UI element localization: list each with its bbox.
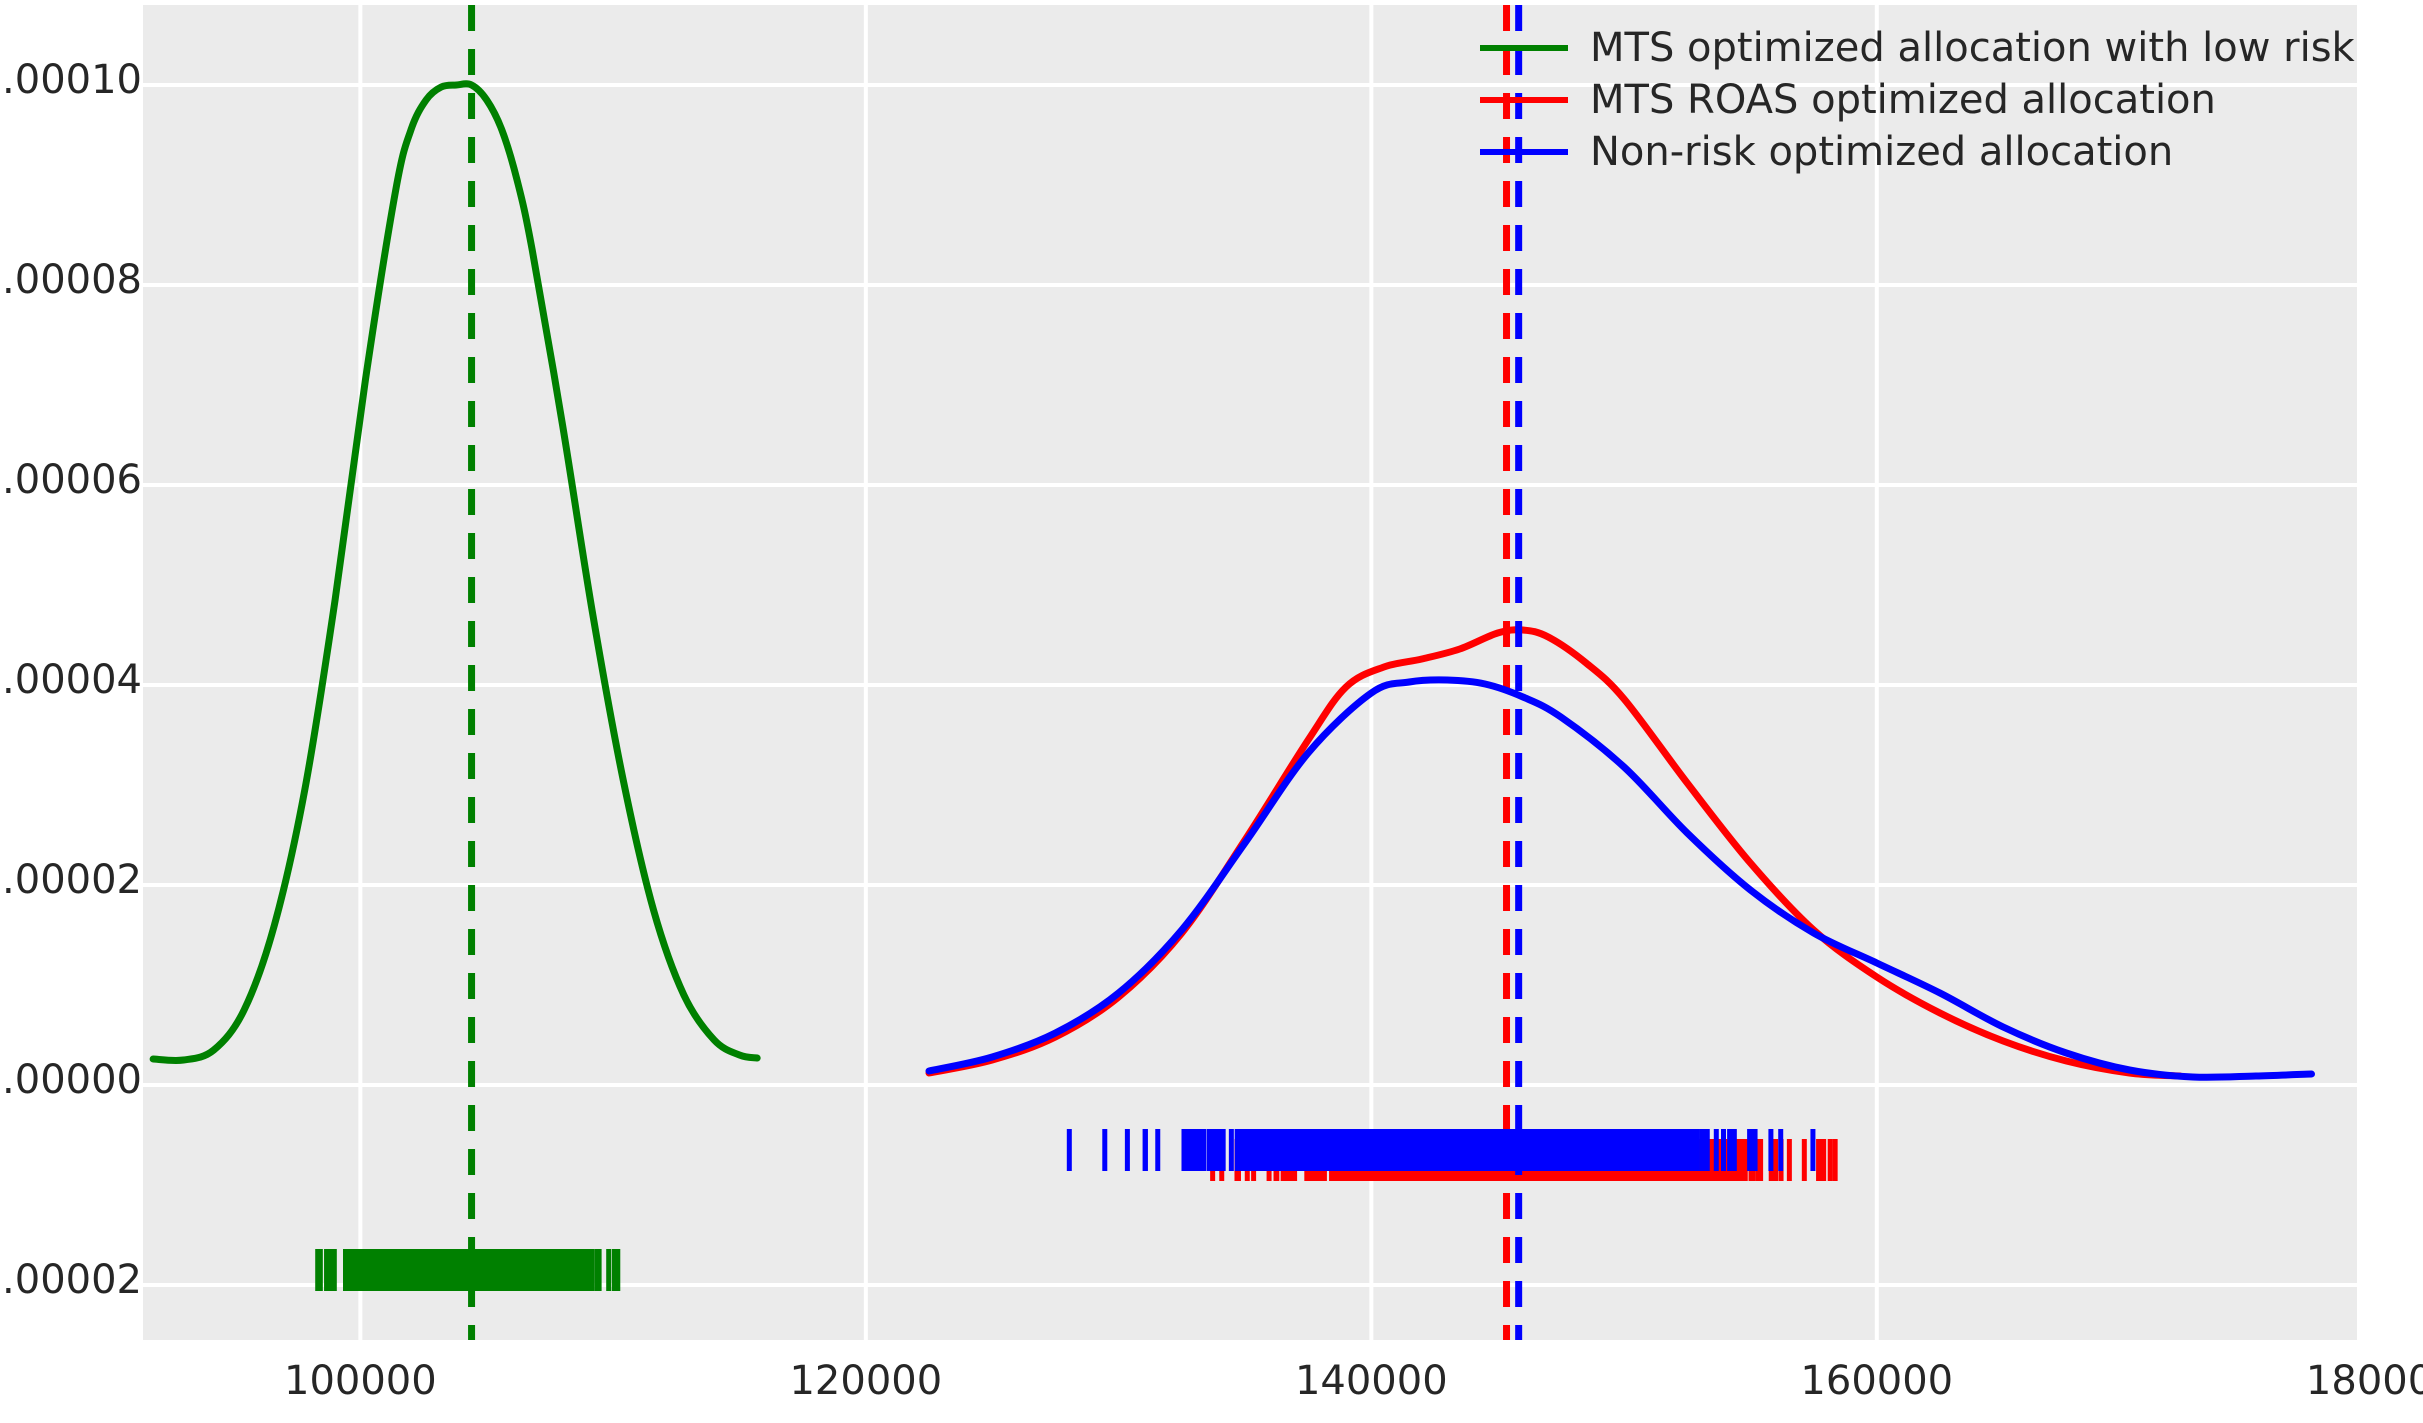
x-tick-label-0: 100000 [284, 1358, 437, 1404]
rug-plot-0 [318, 1249, 618, 1291]
y-tick-label-3: 0.00004 [0, 657, 142, 703]
rug-plot-2 [1069, 1129, 1813, 1171]
legend-line-swatch-1 [1480, 97, 1568, 103]
x-tick-label-2: 140000 [1295, 1358, 1448, 1404]
legend-line-swatch-2 [1480, 149, 1568, 155]
y-tick-label-4: 0.00002 [0, 857, 142, 903]
x-tick-label-3: 160000 [1800, 1358, 1953, 1404]
y-tick-label-0: 0.00010 [0, 57, 142, 103]
legend-item-1[interactable]: MTS ROAS optimized allocation [1480, 74, 2355, 126]
legend-item-2[interactable]: Non-risk optimized allocation [1480, 126, 2355, 178]
x-tick-label-4: 180000 [2306, 1358, 2423, 1404]
y-tick-label-6: −0.00002 [0, 1257, 142, 1303]
plot-canvas [143, 5, 2357, 1340]
legend-label-2: Non-risk optimized allocation [1590, 132, 2173, 172]
legend-line-swatch-0 [1480, 45, 1568, 51]
y-tick-label-2: 0.00006 [0, 457, 142, 503]
chart-legend: MTS optimized allocation with low riskMT… [1480, 22, 2355, 178]
x-tick-label-1: 120000 [789, 1358, 942, 1404]
plot-area [143, 5, 2357, 1340]
legend-label-0: MTS optimized allocation with low risk [1590, 28, 2355, 68]
legend-label-1: MTS ROAS optimized allocation [1590, 80, 2216, 120]
y-tick-label-5: 0.00000 [0, 1057, 142, 1103]
y-tick-label-1: 0.00008 [0, 257, 142, 303]
kde-curve-0 [153, 84, 757, 1061]
legend-item-0[interactable]: MTS optimized allocation with low risk [1480, 22, 2355, 74]
kde-curve-2 [929, 680, 2311, 1077]
kde-distribution-chart: 0.000100.000080.000060.000040.000020.000… [0, 0, 2423, 1423]
kde-curve-1 [929, 630, 2180, 1076]
